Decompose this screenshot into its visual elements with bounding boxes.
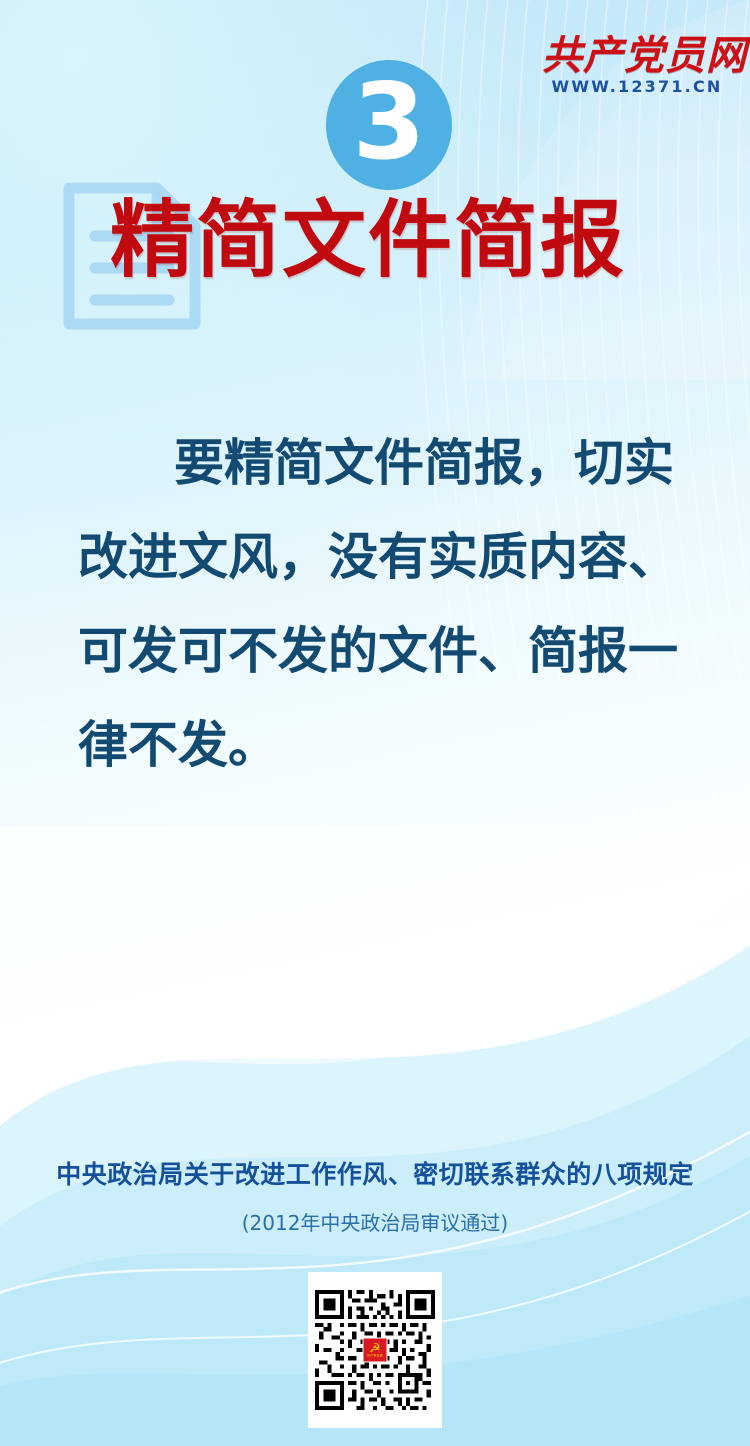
hammer-and-sickle-icon: ☭ 共产党员网 xyxy=(363,1338,388,1363)
logo-brand-name: 共产党员网 xyxy=(542,36,732,76)
item-number-value: 3 xyxy=(352,70,425,175)
footer-regulation-title: 中央政治局关于改进工作作风、密切联系群众的八项规定 xyxy=(0,1155,750,1191)
party-emblem-caption: 共产党员网 xyxy=(367,1355,383,1358)
poster-canvas: 共产党员网 WWW.12371.CN 3 精简文件简报 要精简文件简报，切实改进… xyxy=(0,0,750,1446)
site-logo[interactable]: 共产党员网 WWW.12371.CN xyxy=(542,36,732,95)
logo-url: WWW.12371.CN xyxy=(542,79,732,95)
body-paragraph: 要精简文件简报，切实改进文风，没有实质内容、可发可不发的文件、简报一律不发。 xyxy=(78,416,678,792)
page-title: 精简文件简报 xyxy=(110,198,710,282)
qr-code[interactable]: ☭ 共产党员网 xyxy=(308,1272,442,1428)
footer-regulation-subtitle: (2012年中央政治局审议通过) xyxy=(0,1207,750,1236)
item-number-badge: 3 xyxy=(326,60,452,190)
qr-matrix: ☭ 共产党员网 xyxy=(315,1290,435,1410)
